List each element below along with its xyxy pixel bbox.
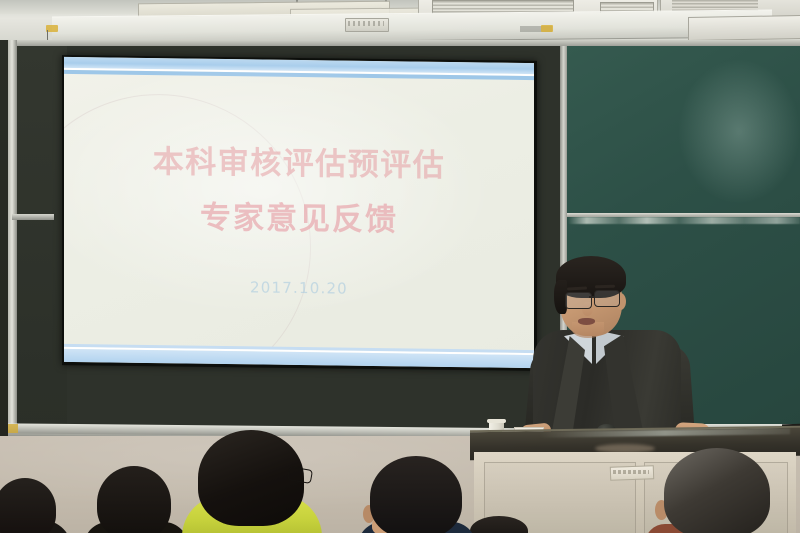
speaker-glasses-lens [594, 290, 620, 307]
chalk-dust-residue [568, 217, 800, 224]
speaker-mouth [578, 318, 595, 325]
audience-member-head [370, 456, 462, 533]
nameplate-text [613, 470, 649, 474]
tray-endcap [8, 424, 18, 433]
slide-title-line-2: 专家意见反馈 [64, 190, 534, 241]
housing-endcap [541, 25, 553, 32]
cup-lid [487, 419, 506, 423]
projected-slide: 本科审核评估预评估 专家意见反馈 2017.10.20 [64, 57, 534, 368]
speaker-glasses-lens [565, 292, 592, 309]
slide-title-line-1: 本科审核评估预评估 [64, 135, 534, 186]
board-rail-middle [12, 214, 54, 220]
sliding-board-panel[interactable] [17, 46, 67, 434]
audience-member-head [97, 466, 171, 533]
lecture-hall-photo: 本科审核评估预评估 专家意见反馈 2017.10.20 [0, 0, 800, 533]
switch-dots [348, 21, 384, 26]
screen-roller-housing [688, 15, 800, 41]
board-rail-left [8, 40, 17, 440]
speaker-glasses-bridge [589, 296, 595, 298]
audience-member-head [664, 448, 770, 533]
